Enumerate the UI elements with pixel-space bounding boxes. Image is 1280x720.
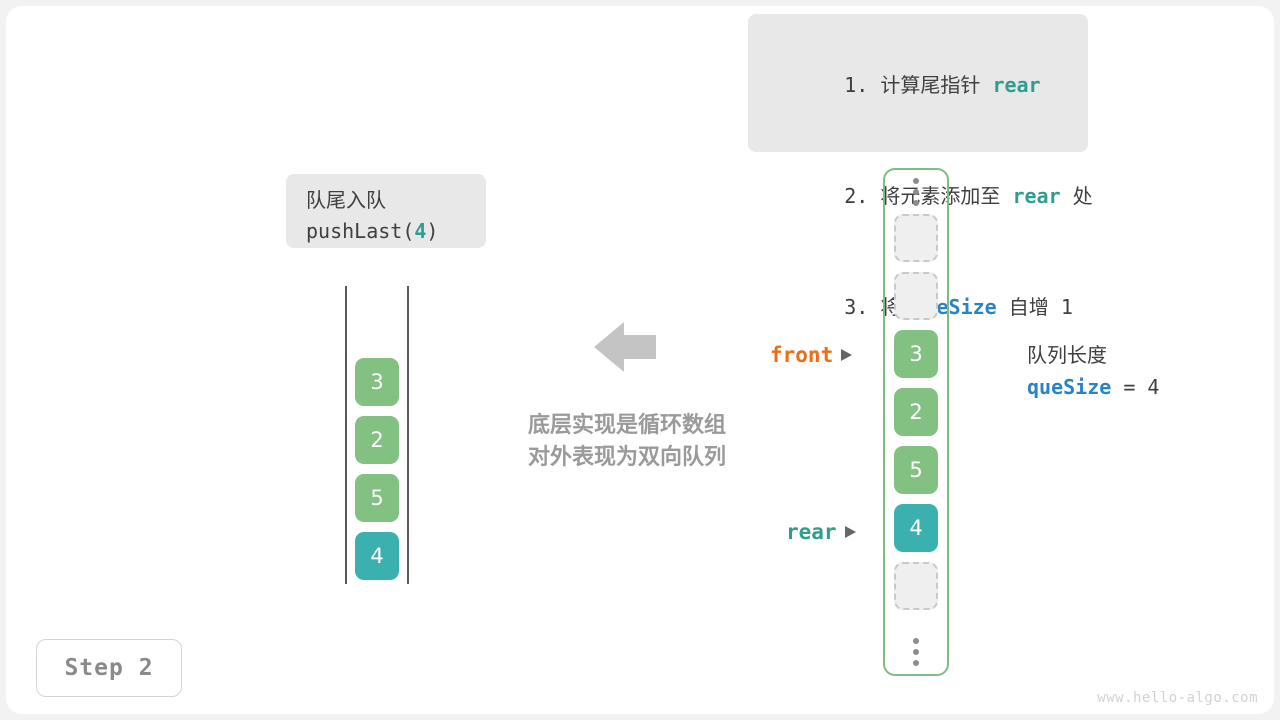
watermark: www.hello-algo.com <box>1097 690 1258 706</box>
deque-cell: 2 <box>355 416 399 464</box>
instruction-3-post: 自增 1 <box>997 295 1073 319</box>
operation-call-suffix: ) <box>426 219 438 243</box>
step-badge: Step 2 <box>36 639 182 697</box>
queue-size-value: 4 <box>1147 375 1159 399</box>
ellipsis-bottom-icon <box>885 630 947 674</box>
instruction-2-post: 处 <box>1061 184 1093 208</box>
center-note: 底层实现是循环数组 对外表现为双向队列 <box>502 410 752 474</box>
pointer-rear-arrow-icon <box>845 526 856 538</box>
circular-array-cell: 4 <box>894 504 938 552</box>
instruction-line-1: 1. 计算尾指针 rear <box>772 30 1066 141</box>
pointer-rear: rear <box>786 520 856 544</box>
circular-array-view: 3 2 5 4 <box>883 168 949 676</box>
center-note-line-1: 底层实现是循环数组 <box>502 410 752 442</box>
queue-size-operator: = <box>1111 375 1147 399</box>
operation-title: 队尾入队 <box>306 185 486 215</box>
deque-rail-right <box>407 286 409 584</box>
queue-size-name: queSize <box>1027 375 1111 399</box>
operation-call-arg: 4 <box>414 219 426 243</box>
circular-array-cell <box>894 214 938 262</box>
pointer-front: front <box>770 343 852 367</box>
queue-size-title: 队列长度 <box>1027 340 1257 370</box>
ellipsis-top-icon <box>885 170 947 214</box>
deque-cell: 3 <box>355 358 399 406</box>
diagram-canvas: 1. 计算尾指针 rear 2. 将元素添加至 rear 处 3. 将 queS… <box>0 0 1280 720</box>
queue-size-expression: queSize = 4 <box>1027 370 1257 404</box>
circular-array-cell: 3 <box>894 330 938 378</box>
pointer-rear-label: rear <box>786 520 837 544</box>
instruction-3-index: 3. <box>844 295 868 319</box>
circular-array-cell: 2 <box>894 388 938 436</box>
deque-rail-left <box>345 286 347 584</box>
center-note-line-2: 对外表现为双向队列 <box>502 442 752 474</box>
instruction-1-text: 计算尾指针 <box>868 73 992 97</box>
instruction-box: 1. 计算尾指针 rear 2. 将元素添加至 rear 处 3. 将 queS… <box>748 14 1088 152</box>
instruction-1-code: rear <box>992 73 1040 97</box>
instruction-2-code: rear <box>1012 184 1060 208</box>
circular-array-cell <box>894 272 938 320</box>
pointer-front-arrow-icon <box>841 349 852 361</box>
deque-cell-list: 3 2 5 4 <box>355 358 399 590</box>
operation-call-prefix: pushLast( <box>306 219 414 243</box>
queue-size-info: 队列长度 queSize = 4 <box>1027 340 1257 404</box>
deque-view: 3 2 5 4 <box>345 286 409 584</box>
arrow-left-icon <box>594 320 656 374</box>
circular-array-cell-list: 3 2 5 4 <box>894 214 938 620</box>
operation-box: 队尾入队 pushLast(4) <box>286 174 486 248</box>
circular-array-cell: 5 <box>894 446 938 494</box>
instruction-1-index: 1. <box>844 73 868 97</box>
instruction-2-index: 2. <box>844 184 868 208</box>
deque-cell: 4 <box>355 532 399 580</box>
pointer-front-label: front <box>770 343 833 367</box>
operation-call: pushLast(4) <box>306 215 486 247</box>
circular-array-cell <box>894 562 938 610</box>
deque-cell: 5 <box>355 474 399 522</box>
